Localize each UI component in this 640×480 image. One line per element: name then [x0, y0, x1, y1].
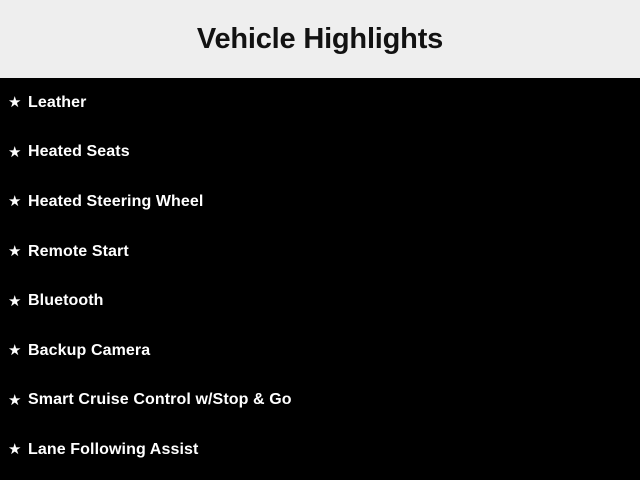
panel-body: ★ Leather ★ Heated Seats ★ Heated Steeri… [0, 78, 640, 480]
star-icon: ★ [8, 442, 28, 457]
list-item: ★ Lane Following Assist [0, 425, 640, 475]
list-item: ★ Heated Seats [0, 128, 640, 178]
list-item-label: Bluetooth [28, 293, 104, 309]
vehicle-highlights-panel: Vehicle Highlights ★ Leather ★ Heated Se… [0, 0, 640, 480]
star-icon: ★ [8, 95, 28, 110]
star-icon: ★ [8, 194, 28, 209]
list-item-label: Lane Following Assist [28, 442, 198, 458]
panel-header: Vehicle Highlights [0, 0, 640, 78]
list-item: ★ Remote Start [0, 227, 640, 277]
star-icon: ★ [8, 343, 28, 358]
list-item-label: Backup Camera [28, 343, 150, 359]
star-icon: ★ [8, 294, 28, 309]
list-item: ★ Bluetooth [0, 276, 640, 326]
list-item: ★ Leather [0, 78, 640, 128]
list-item-label: Remote Start [28, 244, 129, 260]
page-title: Vehicle Highlights [197, 25, 443, 54]
highlights-list: ★ Leather ★ Heated Seats ★ Heated Steeri… [0, 78, 640, 475]
list-item-label: Heated Steering Wheel [28, 194, 203, 210]
list-item-label: Leather [28, 95, 87, 111]
list-item-label: Smart Cruise Control w/Stop & Go [28, 392, 292, 408]
list-item: ★ Backup Camera [0, 326, 640, 376]
list-item-label: Heated Seats [28, 144, 130, 160]
star-icon: ★ [8, 145, 28, 160]
list-item: ★ Heated Steering Wheel [0, 177, 640, 227]
list-item: ★ Smart Cruise Control w/Stop & Go [0, 376, 640, 426]
star-icon: ★ [8, 244, 28, 259]
star-icon: ★ [8, 393, 28, 408]
